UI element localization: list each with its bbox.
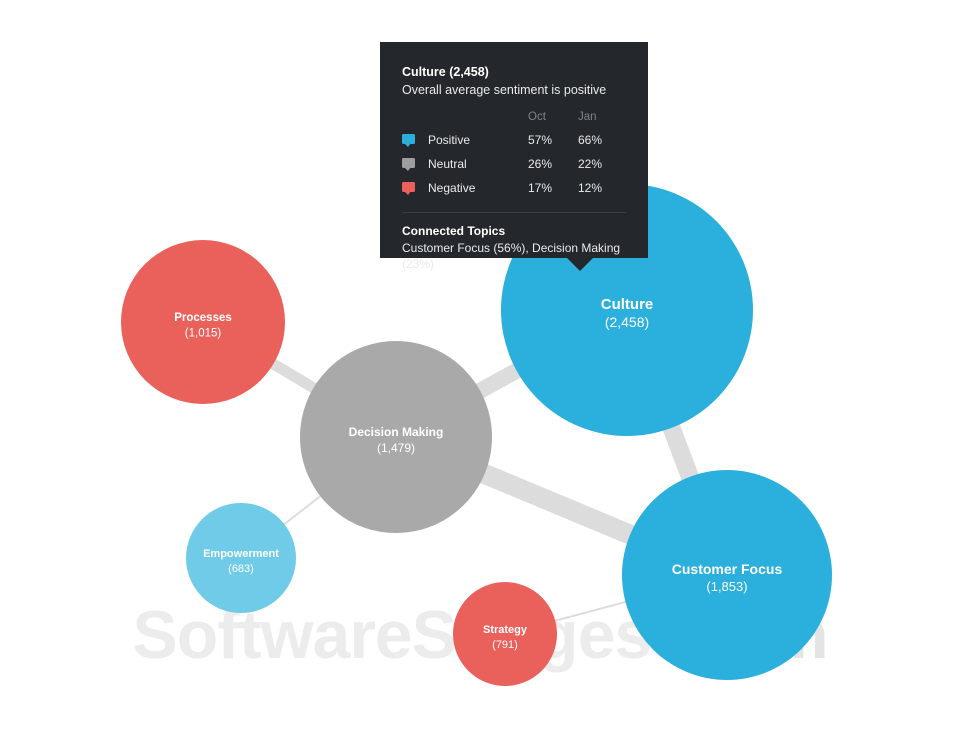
node-processes[interactable]: Processes(1,015) xyxy=(121,240,285,404)
tooltip-title: Culture (2,458) xyxy=(402,64,626,81)
sentiment-value-oct: 26% xyxy=(528,152,578,176)
sentiment-row: Positive57%66% xyxy=(402,128,626,152)
sentiment-value-jan: 22% xyxy=(578,152,626,176)
sentiment-table: Oct Jan Positive57%66%Neutral26%22%Negat… xyxy=(402,111,626,200)
sentiment-value-jan: 12% xyxy=(578,176,626,200)
speech-bubble-icon xyxy=(402,158,415,168)
edge-empowerment-to-decision-making xyxy=(282,494,323,526)
node-circle-processes[interactable] xyxy=(121,240,285,404)
node-circle-strategy[interactable] xyxy=(453,582,557,686)
speech-bubble-icon xyxy=(402,134,415,144)
edge-decision-making-to-customer-focus xyxy=(482,473,633,536)
sentiment-label: Negative xyxy=(428,176,528,200)
edge-culture-to-customer-focus xyxy=(670,425,691,479)
node-circle-customer-focus[interactable] xyxy=(622,470,832,680)
sentiment-icon-cell xyxy=(402,152,428,176)
sentiment-icon-cell xyxy=(402,176,428,200)
column-header-jan: Jan xyxy=(578,111,626,128)
node-customer-focus[interactable]: Customer Focus(1,853) xyxy=(622,470,832,680)
speech-bubble-icon xyxy=(402,182,415,192)
node-circle-empowerment[interactable] xyxy=(186,503,296,613)
sentiment-label: Positive xyxy=(428,128,528,152)
tooltip-divider xyxy=(402,212,626,213)
edge-strategy-to-customer-focus xyxy=(552,601,628,621)
connected-topics-title: Connected Topics xyxy=(402,224,626,238)
sentiment-value-jan: 66% xyxy=(578,128,626,152)
tooltip-pointer-arrow xyxy=(566,257,594,271)
sentiment-value-oct: 57% xyxy=(528,128,578,152)
node-decision-making[interactable]: Decision Making(1,479) xyxy=(300,341,492,533)
node-strategy[interactable]: Strategy(791) xyxy=(453,582,557,686)
header-sentiment-spacer xyxy=(428,111,528,128)
tooltip-subtitle: Overall average sentiment is positive xyxy=(402,82,626,99)
node-circle-decision-making[interactable] xyxy=(300,341,492,533)
sentiment-icon-cell xyxy=(402,128,428,152)
topic-network-visualization: SoftwareSuggest.com Culture(2,458)Custom… xyxy=(0,0,960,734)
node-empowerment[interactable]: Empowerment(683) xyxy=(186,503,296,613)
edge-processes-to-decision-making xyxy=(271,362,316,389)
sentiment-label: Neutral xyxy=(428,152,528,176)
sentiment-row: Negative17%12% xyxy=(402,176,626,200)
sentiment-row: Neutral26%22% xyxy=(402,152,626,176)
edge-decision-making-to-culture xyxy=(477,369,519,392)
sentiment-value-oct: 17% xyxy=(528,176,578,200)
culture-tooltip: Culture (2,458) Overall average sentimen… xyxy=(380,42,648,258)
table-header-row: Oct Jan xyxy=(402,111,626,128)
column-header-oct: Oct xyxy=(528,111,578,128)
sentiment-rows: Positive57%66%Neutral26%22%Negative17%12… xyxy=(402,128,626,200)
header-icon-spacer xyxy=(402,111,428,128)
